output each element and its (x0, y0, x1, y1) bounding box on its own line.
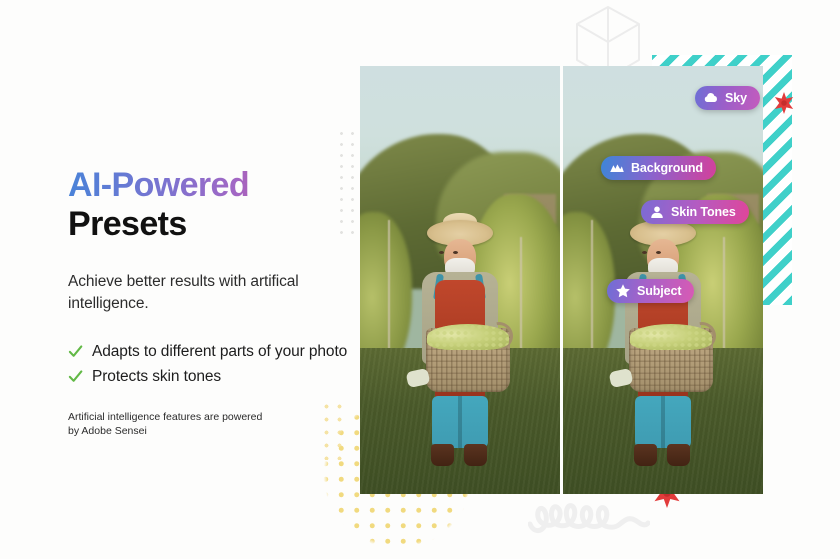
badge-subject[interactable]: Subject (607, 279, 694, 303)
eye-left (642, 251, 647, 254)
check-icon (68, 369, 83, 384)
list-item-label: Adapts to different parts of your photo (92, 342, 347, 363)
page-title-accent: AI-Powered (68, 168, 360, 203)
list-item: Adapts to different parts of your photo (68, 342, 360, 363)
check-icon (68, 344, 83, 359)
vineyard-scene (360, 66, 560, 494)
badge-background[interactable]: Background (601, 156, 716, 180)
trousers (635, 396, 691, 448)
boot-left (634, 444, 657, 466)
page-title-main: Presets (68, 205, 360, 243)
star-icon (614, 283, 631, 300)
feature-list: Adapts to different parts of your photo … (68, 342, 360, 388)
boot-left (431, 444, 454, 466)
farmer-figure (401, 220, 519, 494)
farmer-figure (604, 220, 722, 494)
vine-post (520, 237, 522, 365)
mountain-icon (608, 160, 625, 177)
lede-paragraph: Achieve better results with artifical in… (68, 271, 360, 316)
boot-right (667, 444, 690, 466)
copy-column: AI-Powered Presets Achieve better result… (68, 168, 360, 439)
badge-skin-tones[interactable]: Skin Tones (641, 200, 749, 224)
photo-before (360, 66, 560, 494)
vine-post (388, 220, 390, 366)
vine-post (591, 220, 593, 366)
list-item: Protects skin tones (68, 367, 360, 388)
cloud-icon (702, 90, 719, 107)
list-item-label: Protects skin tones (92, 367, 221, 388)
trousers (432, 396, 488, 448)
badge-sky[interactable]: Sky (695, 86, 760, 110)
green-grapes (630, 324, 712, 350)
person-icon (648, 204, 665, 221)
badge-label: Skin Tones (671, 205, 736, 219)
eye-right (453, 251, 458, 254)
badge-label: Background (631, 161, 703, 175)
green-grapes (427, 324, 509, 350)
eye-left (439, 251, 444, 254)
vine-post (723, 237, 725, 365)
eye-right (656, 251, 661, 254)
badge-label: Sky (725, 91, 747, 105)
footnote-text: Artificial intelligence features are pow… (68, 410, 273, 440)
red-star-burst-icon (773, 92, 795, 114)
loop-squiggle-decoration (528, 492, 650, 534)
badge-label: Subject (637, 284, 681, 298)
boot-right (464, 444, 487, 466)
slide-canvas: sparklestock® AI-Powered Presets Achieve… (0, 0, 840, 559)
